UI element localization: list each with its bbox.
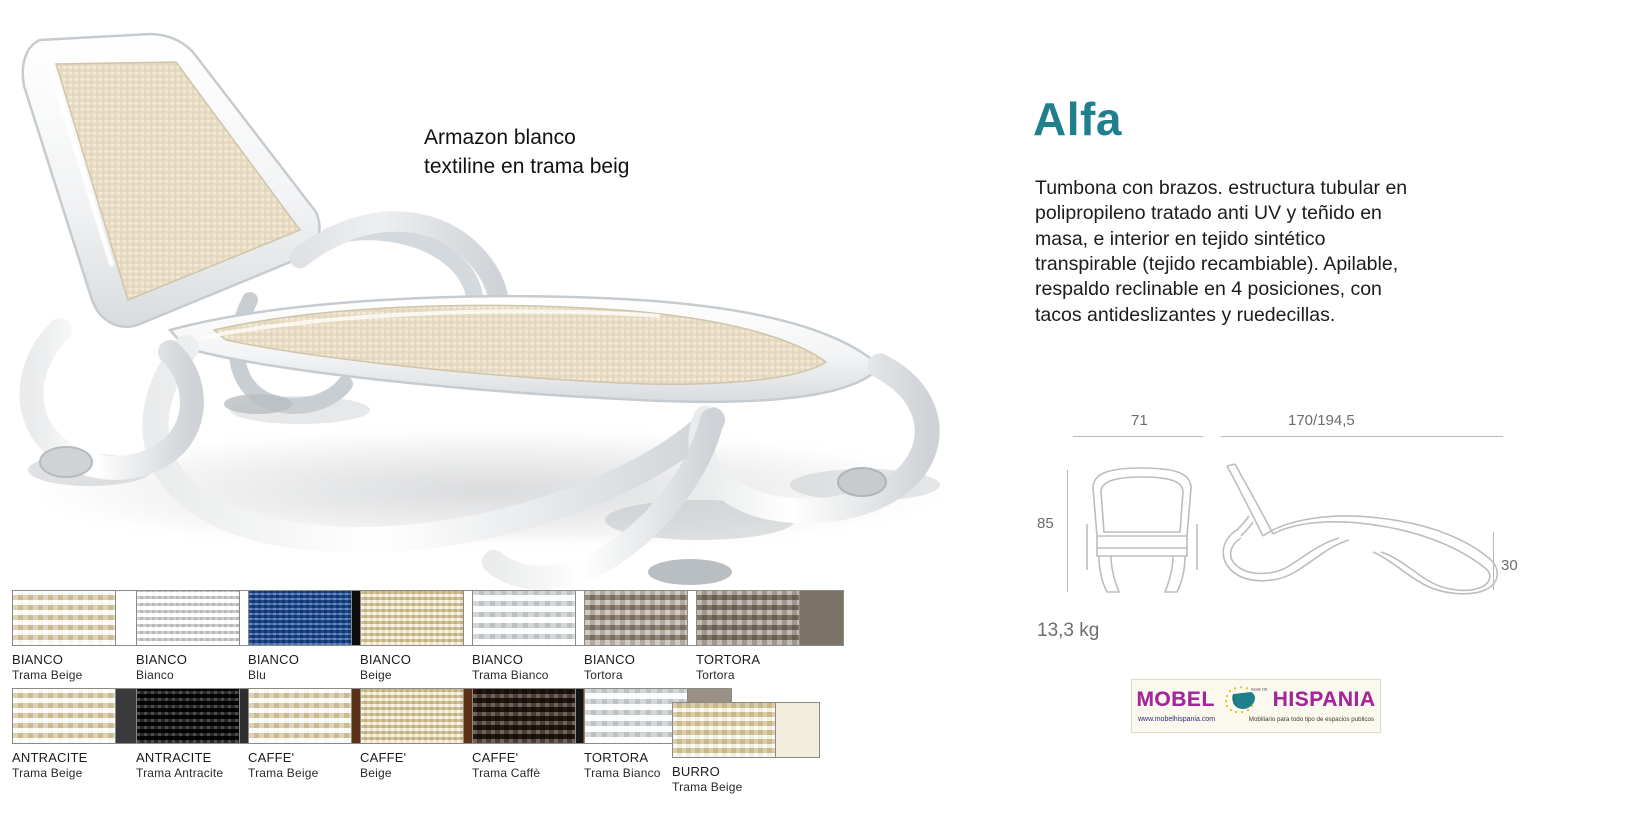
product-info-panel: Alfa Tumbona con brazos. estructura tubu… [1033, 0, 1613, 821]
swatch-fabric [137, 689, 239, 743]
dim-height-label: 85 [1037, 515, 1054, 532]
swatch-fabric-name: Tortora [696, 668, 844, 683]
swatch-fabric [673, 703, 775, 757]
swatch-label: TORTORA Tortora [696, 652, 844, 682]
dim-length-line [1221, 436, 1503, 437]
swatch-chip [672, 702, 820, 758]
dim-length-label: 170/194,5 [1288, 412, 1355, 429]
color-swatch-grid: BIANCO Trama Beige BIANCO Bianco [12, 590, 1012, 815]
logo-wordmark: MOBEL Desde 1998 [1132, 684, 1380, 716]
swatch-frame-name: BURRO [672, 764, 820, 780]
logo-tagline: Mobiliario para todo tipo de espacios pu… [1249, 716, 1374, 723]
logo-word-hispania: HISPANIA [1273, 688, 1376, 712]
brand-logo: MOBEL Desde 1998 [1131, 679, 1381, 733]
swatch-chip [696, 590, 844, 646]
swatch-fabric [249, 591, 351, 645]
swatch-fabric [361, 591, 463, 645]
swatch-fabric [697, 591, 799, 645]
product-sheet: Armazon blanco textiline en trama beig B… [0, 0, 1630, 821]
logo-word-mobel: MOBEL [1136, 688, 1214, 712]
dim-width-line [1073, 436, 1203, 437]
swatch-item[interactable]: TORTORA Tortora [696, 590, 844, 682]
dimension-diagram: 71 170/194,5 85 30 [1033, 412, 1533, 612]
product-photo: Armazon blanco textiline en trama beig [0, 0, 1010, 600]
swatch-fabric [585, 591, 687, 645]
swatch-label: BURRO Trama Beige [672, 764, 820, 794]
logo-url: www.mobelhispania.com [1138, 716, 1215, 723]
spain-map-icon: Desde 1998 [1221, 685, 1267, 715]
product-description: Tumbona con brazos. estructura tubular e… [1035, 176, 1415, 328]
swatch-fabric [473, 591, 575, 645]
dim-width-label: 71 [1131, 412, 1148, 429]
dim-height-line [1067, 470, 1068, 592]
swatch-fabric [137, 591, 239, 645]
swatch-fabric [361, 689, 463, 743]
logo-subline: www.mobelhispania.com Mobiliario para to… [1132, 716, 1380, 728]
swatch-frame-color [775, 703, 819, 757]
swatch-fabric-name: Trama Beige [672, 780, 820, 795]
swatch-fabric [13, 591, 115, 645]
product-weight: 13,3 kg [1037, 620, 1099, 642]
swatch-row-1: BIANCO Trama Beige BIANCO Bianco [12, 590, 1012, 690]
swatch-fabric [473, 689, 575, 743]
front-view-drawing [1077, 464, 1207, 596]
swatch-item[interactable]: BURRO Trama Beige [672, 702, 820, 794]
swatch-fabric [13, 689, 115, 743]
photo-annotation: Armazon blanco textiline en trama beig [424, 124, 629, 182]
swatch-frame-name: TORTORA [696, 652, 844, 668]
swatch-row-2: ANTRACITE Trama Beige ANTRACITE Trama An… [12, 688, 1012, 788]
logo-emblem-label: Desde 1998 [1251, 688, 1267, 692]
sun-lounger-illustration [0, 0, 1010, 600]
product-title: Alfa [1033, 92, 1122, 146]
swatch-fabric [249, 689, 351, 743]
side-view-drawing [1219, 460, 1509, 600]
swatch-frame-color [799, 591, 843, 645]
